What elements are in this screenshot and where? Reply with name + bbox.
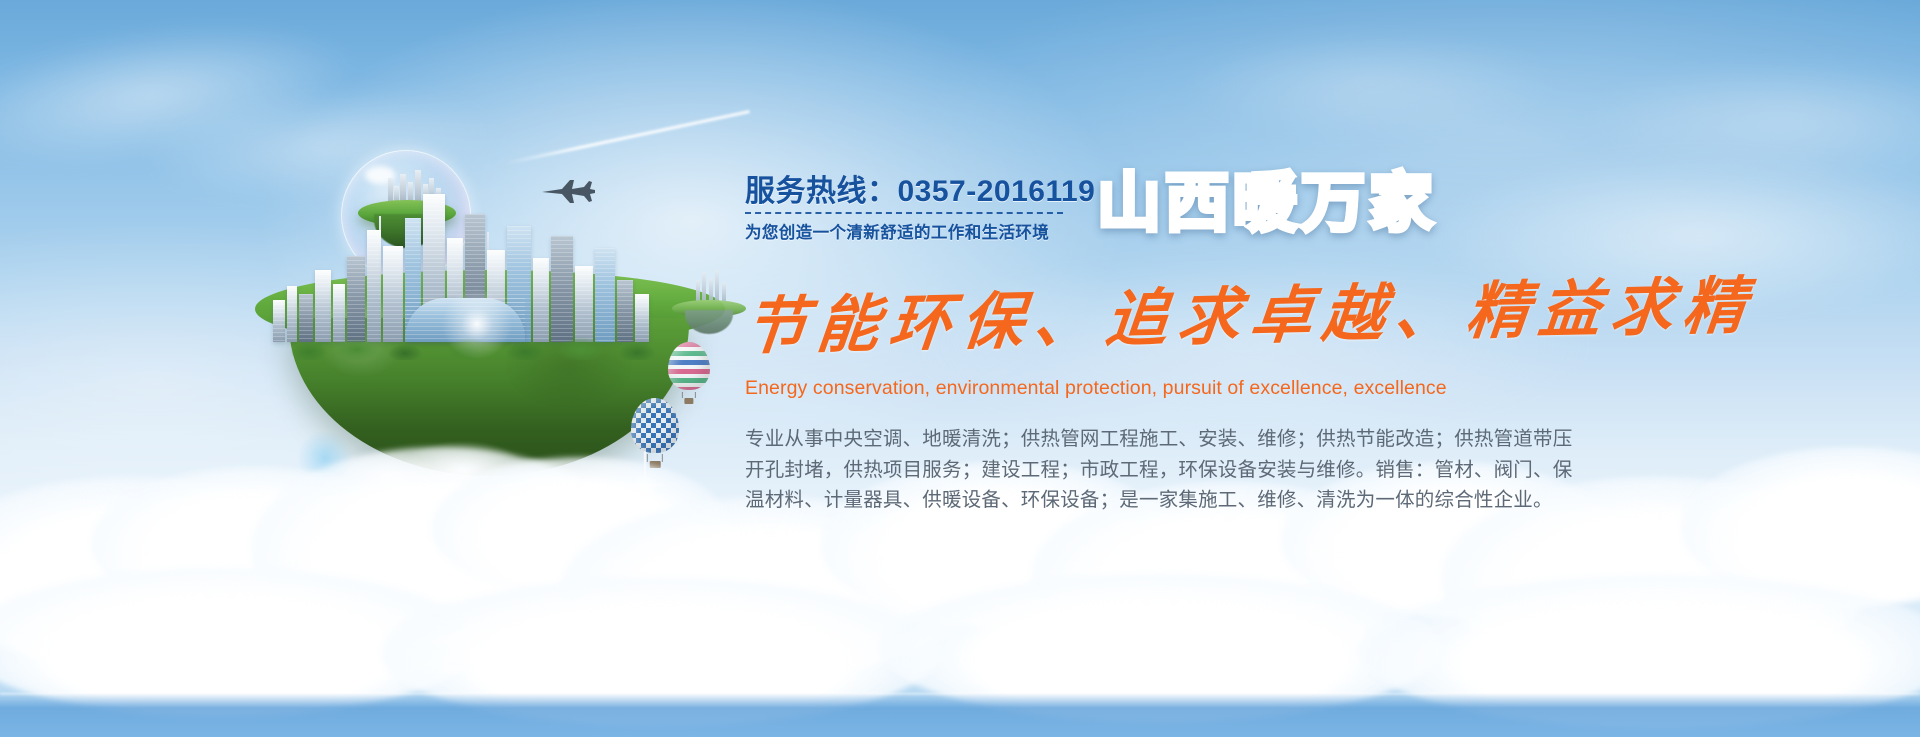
slogan-english: Energy conservation, environmental prote… (745, 377, 1875, 400)
description-line: 专业从事中央空调、地暖清洗；供热管网工程施工、安装、维修；供热节能改造；供热管道… (745, 424, 1445, 454)
lens-flare-icon (297, 430, 353, 486)
banner-text-content: 服务热线：0357-2016119 为您创造一个清新舒适的工作和生活环境 山西暖… (745, 170, 1875, 516)
company-name-title: 山西暖万家 (1097, 170, 1437, 238)
hotline-and-title-row: 服务热线：0357-2016119 为您创造一个清新舒适的工作和生活环境 山西暖… (745, 170, 1875, 274)
hotline-tagline: 为您创造一个清新舒适的工作和生活环境 (745, 219, 1065, 243)
distant-floating-island-icon (672, 278, 746, 336)
checkered-hot-air-balloon-icon (631, 398, 679, 468)
description-line: 温材料、计量器具、供暖设备、环保设备；是一家集施工、维修、清洗为一体的综合性企业… (745, 485, 1445, 515)
company-description: 专业从事中央空调、地暖清洗；供热管网工程施工、安装、维修；供热节能改造；供热管道… (745, 424, 1445, 515)
main-floating-island (255, 270, 725, 520)
hotline-block: 服务热线：0357-2016119 为您创造一个清新舒适的工作和生活环境 (745, 176, 1065, 243)
lens-flare-icon (437, 284, 517, 364)
company-banner: 服务热线：0357-2016119 为您创造一个清新舒适的工作和生活环境 山西暖… (0, 0, 1920, 737)
hotline-divider (745, 212, 1063, 214)
island-cloud-icon (333, 438, 583, 508)
hotline-text: 服务热线：0357-2016119 (745, 176, 1065, 208)
striped-hot-air-balloon-icon (668, 342, 710, 404)
slogan-chinese: 节能环保、追求卓越、精益求精 (741, 268, 1881, 361)
description-line: 开孔封堵，供热项目服务；建设工程；市政工程，环保设备安装与维修。销售：管材、阀门… (745, 455, 1445, 485)
